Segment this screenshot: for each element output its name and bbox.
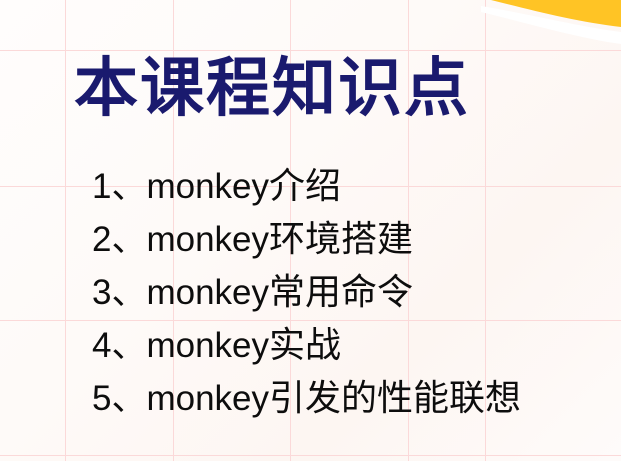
list-item-number: 5、	[92, 379, 146, 418]
list-item-label: 引发的性能联想	[269, 378, 521, 418]
list-item-label: 环境搭建	[269, 219, 413, 259]
list-item-number: 2、	[92, 220, 146, 259]
list-item: 4、monkey实战	[92, 319, 521, 372]
list-item-label: 常用命令	[269, 272, 413, 312]
list-item-latin: monkey	[146, 379, 269, 418]
list-item-latin: monkey	[146, 167, 269, 206]
slide-canvas: 本课程知识点 1、monkey介绍 2、monkey环境搭建 3、monkey常…	[0, 0, 621, 461]
list-item-label: 介绍	[269, 166, 341, 206]
list-item: 5、monkey引发的性能联想	[92, 372, 521, 425]
list-item: 1、monkey介绍	[92, 160, 521, 213]
list-item-label: 实战	[269, 325, 341, 365]
list-item-number: 4、	[92, 326, 146, 365]
list-item-number: 1、	[92, 167, 146, 206]
list-item-latin: monkey	[146, 220, 269, 259]
page-title: 本课程知识点	[74, 50, 470, 128]
list-item-latin: monkey	[146, 326, 269, 365]
agenda-list: 1、monkey介绍 2、monkey环境搭建 3、monkey常用命令 4、m…	[92, 160, 521, 425]
list-item: 2、monkey环境搭建	[92, 213, 521, 266]
list-item-number: 3、	[92, 273, 146, 312]
list-item: 3、monkey常用命令	[92, 266, 521, 319]
list-item-latin: monkey	[146, 273, 269, 312]
